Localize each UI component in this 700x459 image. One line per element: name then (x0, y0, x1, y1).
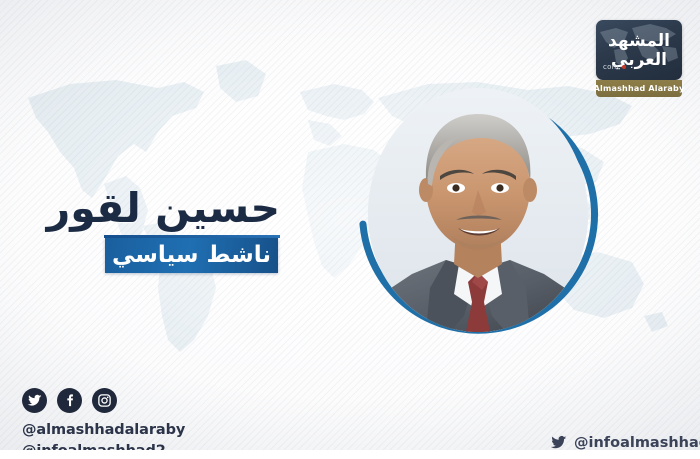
channel-logo[interactable]: المشهد العربي com Almashhad Alaraby (596, 20, 682, 97)
bottom-white-strip (0, 450, 700, 459)
role-badge-label: ناشط سياسي (112, 244, 271, 267)
twitter-bird-icon (550, 434, 567, 451)
logo-card: المشهد العربي com (596, 20, 682, 80)
twitter-icon[interactable] (22, 388, 47, 413)
logo-red-dot-icon (622, 65, 626, 69)
person-name: حسين لقور (47, 186, 280, 232)
logo-arabic-line-1: المشهد (596, 33, 682, 50)
portrait-photo (368, 88, 588, 332)
handle-primary: @almashhadalaraby (22, 420, 185, 441)
broadcast-lower-third-card: حسين لقور ناشط سياسي المشهد (0, 0, 700, 459)
social-block: @almashhadalaraby @infoalmashhad2 (22, 388, 185, 459)
facebook-icon[interactable] (57, 388, 82, 413)
social-icon-row (22, 388, 185, 413)
logo-nameplate: Almashhad Alaraby (596, 80, 682, 97)
logo-com-label: com (603, 63, 619, 71)
logo-nameplate-text: Almashhad Alaraby (594, 84, 685, 93)
bottom-right-handle[interactable]: @infoalmashhad2 (550, 434, 700, 451)
portrait-frame (352, 88, 604, 340)
person-name-block: حسين لقور (47, 186, 280, 238)
role-badge: ناشط سياسي (105, 238, 278, 273)
instagram-icon[interactable] (92, 388, 117, 413)
bottom-right-handle-text: @infoalmashhad2 (574, 435, 700, 451)
